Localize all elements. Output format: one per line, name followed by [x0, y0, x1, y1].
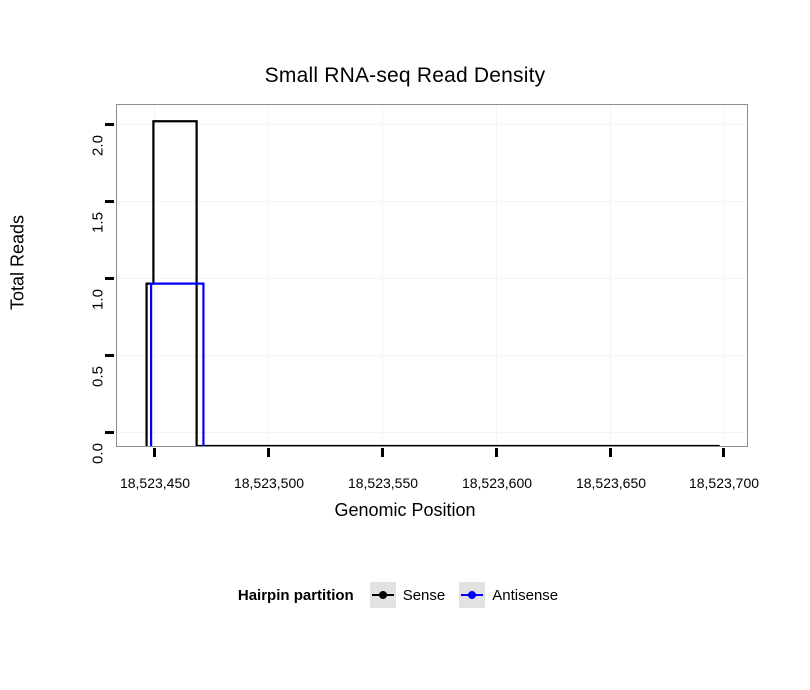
x-tick-mark-18523700 [722, 448, 725, 457]
x-tick-mark-18523550 [381, 448, 384, 457]
x-tick-label-18523550: 18,523,550 [348, 475, 418, 491]
series-line-sense [147, 121, 720, 446]
x-tick-mark-18523450 [153, 448, 156, 457]
plot-panel [116, 104, 748, 447]
chart-title: Small RNA-seq Read Density [0, 64, 810, 88]
x-tick-label-18523650: 18,523,650 [576, 475, 646, 491]
legend-title: Hairpin partition [238, 587, 354, 604]
y-tick-label-1.5: 1.5 [90, 203, 107, 243]
x-axis-title: Genomic Position [0, 500, 810, 521]
series-plot-area [117, 105, 747, 446]
y-tick-label-1.0: 1.0 [90, 280, 107, 320]
legend-label-sense: Sense [403, 587, 446, 604]
x-tick-label-18523600: 18,523,600 [462, 475, 532, 491]
x-tick-label-18523450: 18,523,450 [120, 475, 190, 491]
legend: Hairpin partition Sense Antisense [0, 582, 810, 608]
legend-entry-sense[interactable]: Sense [370, 582, 446, 608]
y-tick-label-2.0: 2.0 [90, 126, 107, 166]
y-tick-label-0.5: 0.5 [90, 357, 107, 397]
x-tick-label-18523500: 18,523,500 [234, 475, 304, 491]
x-tick-mark-18523600 [495, 448, 498, 457]
legend-key-antisense-icon [459, 582, 485, 608]
legend-key-sense-icon [370, 582, 396, 608]
x-tick-mark-18523650 [609, 448, 612, 457]
x-tick-label-18523700: 18,523,700 [689, 475, 759, 491]
y-tick-label-0.0: 0.0 [90, 434, 107, 474]
chart-figure: Small RNA-seq Read Density Total Reads 2… [0, 0, 810, 690]
legend-label-antisense: Antisense [492, 587, 558, 604]
legend-entry-antisense[interactable]: Antisense [459, 582, 558, 608]
x-tick-mark-18523500 [267, 448, 270, 457]
y-axis-title: Total Reads [8, 193, 29, 333]
